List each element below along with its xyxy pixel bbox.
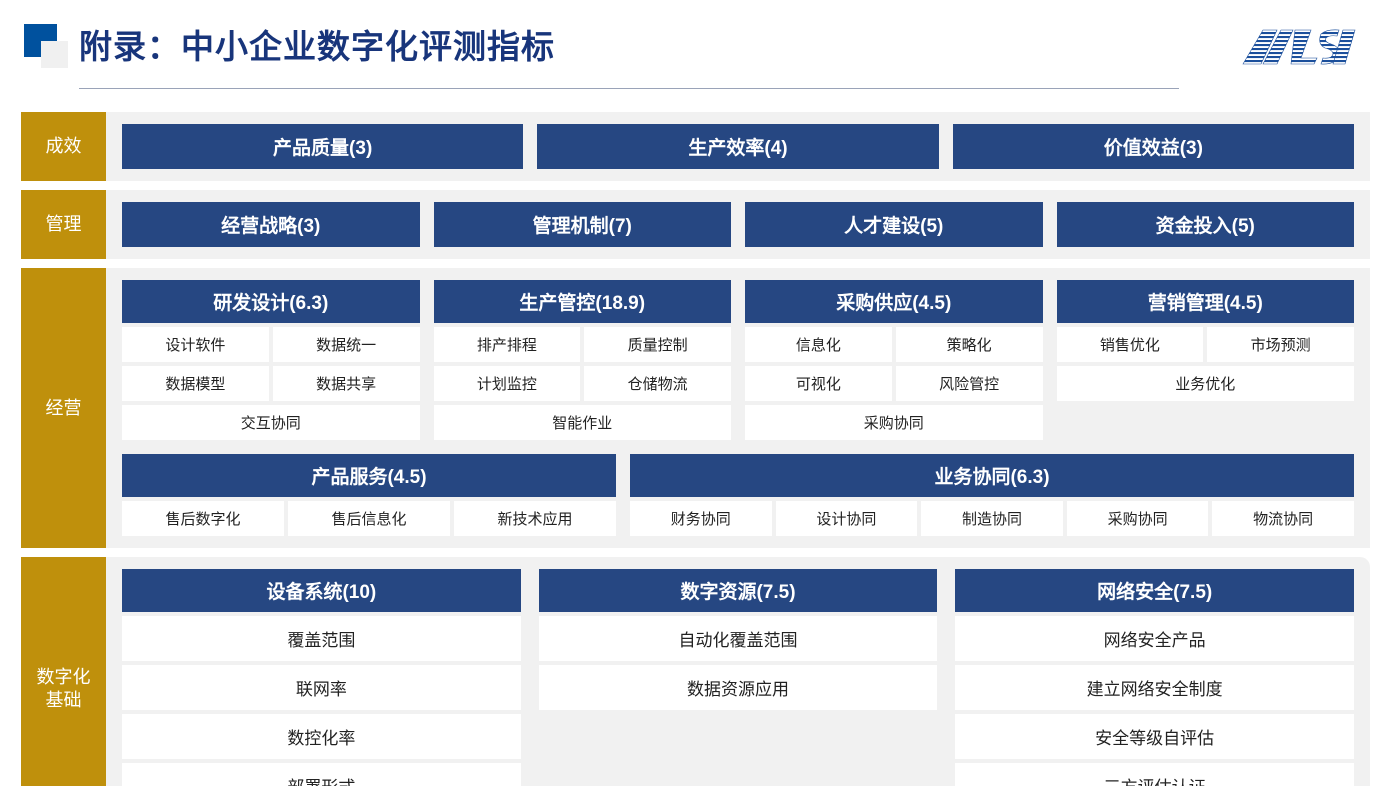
metric-group-marketing: 营销管理(4.5) 销售优化 市场预测 业务优化 <box>1057 280 1355 440</box>
title-divider <box>79 88 1179 89</box>
band-body-digital-foundation: 设备系统(10) 覆盖范围 联网率 数控化率 部署形式 数字资源(7.5) 自动… <box>106 557 1370 786</box>
sub-item[interactable]: 数控化率 <box>122 714 521 759</box>
metric-card[interactable]: 产品质量(3) <box>122 124 523 169</box>
sub-item-grid: 销售优化 市场预测 业务优化 <box>1057 327 1355 401</box>
card-row: 经营战略(3) 管理机制(7) 人才建设(5) 资金投入(5) <box>122 202 1354 247</box>
sub-item[interactable]: 财务协同 <box>630 501 772 536</box>
sub-item[interactable]: 联网率 <box>122 665 521 710</box>
metric-group-product-service: 产品服务(4.5) 售后数字化 售后信息化 新技术应用 <box>122 454 616 536</box>
metric-group-equipment: 设备系统(10) 覆盖范围 联网率 数控化率 部署形式 <box>122 569 521 786</box>
band-body-guanli: 经营战略(3) 管理机制(7) 人才建设(5) 资金投入(5) <box>106 190 1370 259</box>
sub-item[interactable]: 可视化 <box>745 366 892 401</box>
metric-card-header[interactable]: 产品服务(4.5) <box>122 454 616 497</box>
sub-item[interactable]: 覆盖范围 <box>122 616 521 661</box>
metric-card[interactable]: 人才建设(5) <box>745 202 1043 247</box>
sub-item[interactable]: 采购协同 <box>1067 501 1209 536</box>
metric-card[interactable]: 资金投入(5) <box>1057 202 1355 247</box>
metric-group-procurement: 采购供应(4.5) 信息化 策略化 可视化 风险管控 采购协同 <box>745 280 1043 440</box>
sub-item[interactable]: 新技术应用 <box>454 501 616 536</box>
page-header: 附录：中小企业数字化评测指标 <box>0 0 1391 112</box>
sub-item[interactable]: 自动化覆盖范围 <box>539 616 938 661</box>
metric-card[interactable]: 价值效益(3) <box>953 124 1354 169</box>
band-jingying: 经营 研发设计(6.3) 设计软件 数据统一 数据模型 数据共享 交互协同 <box>21 268 1370 548</box>
metric-card-header[interactable]: 营销管理(4.5) <box>1057 280 1355 323</box>
sub-item[interactable]: 安全等级自评估 <box>955 714 1354 759</box>
sub-item[interactable]: 策略化 <box>896 327 1043 362</box>
metric-card-header[interactable]: 采购供应(4.5) <box>745 280 1043 323</box>
decorative-square-logo <box>24 24 68 68</box>
band-chengxiao: 成效 产品质量(3) 生产效率(4) 价值效益(3) <box>21 112 1370 181</box>
band-label-digital-foundation: 数字化 基础 <box>21 557 106 786</box>
sub-item[interactable]: 交互协同 <box>122 405 420 440</box>
band-label-jingying: 经营 <box>21 268 106 548</box>
sub-item[interactable]: 智能作业 <box>434 405 732 440</box>
sub-item[interactable]: 数据共享 <box>273 366 420 401</box>
sub-item[interactable]: 三方评估认证 <box>955 763 1354 786</box>
sub-item-grid: 排产排程 质量控制 计划监控 仓储物流 智能作业 <box>434 327 732 440</box>
metric-card[interactable]: 经营战略(3) <box>122 202 420 247</box>
sub-item[interactable]: 市场预测 <box>1207 327 1354 362</box>
band-label-chengxiao: 成效 <box>21 112 106 181</box>
sub-item[interactable]: 计划监控 <box>434 366 581 401</box>
sub-item-list: 自动化覆盖范围 数据资源应用 <box>539 616 938 710</box>
sub-item[interactable]: 制造协同 <box>921 501 1063 536</box>
metric-card-header[interactable]: 数字资源(7.5) <box>539 569 938 612</box>
metric-group-production: 生产管控(18.9) 排产排程 质量控制 计划监控 仓储物流 智能作业 <box>434 280 732 440</box>
metric-card[interactable]: 管理机制(7) <box>434 202 732 247</box>
sub-item[interactable]: 网络安全产品 <box>955 616 1354 661</box>
sub-item[interactable]: 售后信息化 <box>288 501 450 536</box>
card-row: 设备系统(10) 覆盖范围 联网率 数控化率 部署形式 数字资源(7.5) 自动… <box>122 569 1354 786</box>
sub-item-list: 覆盖范围 联网率 数控化率 部署形式 <box>122 616 521 786</box>
sub-item[interactable]: 建立网络安全制度 <box>955 665 1354 710</box>
metric-card-header[interactable]: 设备系统(10) <box>122 569 521 612</box>
assessment-matrix: 成效 产品质量(3) 生产效率(4) 价值效益(3) 管理 经营战略(3) 管理… <box>21 112 1370 786</box>
band-digital-foundation: 数字化 基础 设备系统(10) 覆盖范围 联网率 数控化率 部署形式 数字资源(… <box>21 557 1370 786</box>
metric-card-header[interactable]: 生产管控(18.9) <box>434 280 732 323</box>
sub-item-grid: 信息化 策略化 可视化 风险管控 采购协同 <box>745 327 1043 440</box>
card-row-primary: 研发设计(6.3) 设计软件 数据统一 数据模型 数据共享 交互协同 生产管控(… <box>122 280 1354 440</box>
band-guanli: 管理 经营战略(3) 管理机制(7) 人才建设(5) 资金投入(5) <box>21 190 1370 259</box>
sub-item[interactable]: 数据统一 <box>273 327 420 362</box>
alsi-brand-logo <box>1237 24 1361 68</box>
sub-item[interactable]: 采购协同 <box>745 405 1043 440</box>
metric-group-rd: 研发设计(6.3) 设计软件 数据统一 数据模型 数据共享 交互协同 <box>122 280 420 440</box>
sub-item[interactable]: 数据资源应用 <box>539 665 938 710</box>
sub-item-grid: 设计软件 数据统一 数据模型 数据共享 交互协同 <box>122 327 420 440</box>
sub-item[interactable]: 质量控制 <box>584 327 731 362</box>
sub-item[interactable]: 设计软件 <box>122 327 269 362</box>
sub-item[interactable]: 排产排程 <box>434 327 581 362</box>
sub-item[interactable]: 仓储物流 <box>584 366 731 401</box>
sub-item-list: 网络安全产品 建立网络安全制度 安全等级自评估 三方评估认证 <box>955 616 1354 786</box>
band-body-jingying: 研发设计(6.3) 设计软件 数据统一 数据模型 数据共享 交互协同 生产管控(… <box>106 268 1370 548</box>
metric-card[interactable]: 生产效率(4) <box>537 124 938 169</box>
metric-card-header[interactable]: 业务协同(6.3) <box>630 454 1354 497</box>
sub-item[interactable]: 物流协同 <box>1212 501 1354 536</box>
card-row: 产品质量(3) 生产效率(4) 价值效益(3) <box>122 124 1354 169</box>
sub-item[interactable]: 风险管控 <box>896 366 1043 401</box>
band-body-chengxiao: 产品质量(3) 生产效率(4) 价值效益(3) <box>106 112 1370 181</box>
metric-card-header[interactable]: 网络安全(7.5) <box>955 569 1354 612</box>
metric-group-network-security: 网络安全(7.5) 网络安全产品 建立网络安全制度 安全等级自评估 三方评估认证 <box>955 569 1354 786</box>
metric-group-digital-resource: 数字资源(7.5) 自动化覆盖范围 数据资源应用 <box>539 569 938 786</box>
sub-item[interactable]: 售后数字化 <box>122 501 284 536</box>
metric-card-header[interactable]: 研发设计(6.3) <box>122 280 420 323</box>
sub-item-grid: 财务协同 设计协同 制造协同 采购协同 物流协同 <box>630 501 1354 536</box>
sub-item[interactable]: 销售优化 <box>1057 327 1204 362</box>
logo-gray-square <box>41 41 68 68</box>
sub-item[interactable]: 设计协同 <box>776 501 918 536</box>
sub-item[interactable]: 部署形式 <box>122 763 521 786</box>
sub-item[interactable]: 信息化 <box>745 327 892 362</box>
sub-item[interactable]: 数据模型 <box>122 366 269 401</box>
metric-group-business-collab: 业务协同(6.3) 财务协同 设计协同 制造协同 采购协同 物流协同 <box>630 454 1354 536</box>
sub-item-grid: 售后数字化 售后信息化 新技术应用 <box>122 501 616 536</box>
card-row-secondary: 产品服务(4.5) 售后数字化 售后信息化 新技术应用 业务协同(6.3) 财务… <box>122 454 1354 536</box>
sub-item[interactable]: 业务优化 <box>1057 366 1355 401</box>
band-label-guanli: 管理 <box>21 190 106 259</box>
page-title: 附录：中小企业数字化评测指标 <box>79 20 555 68</box>
